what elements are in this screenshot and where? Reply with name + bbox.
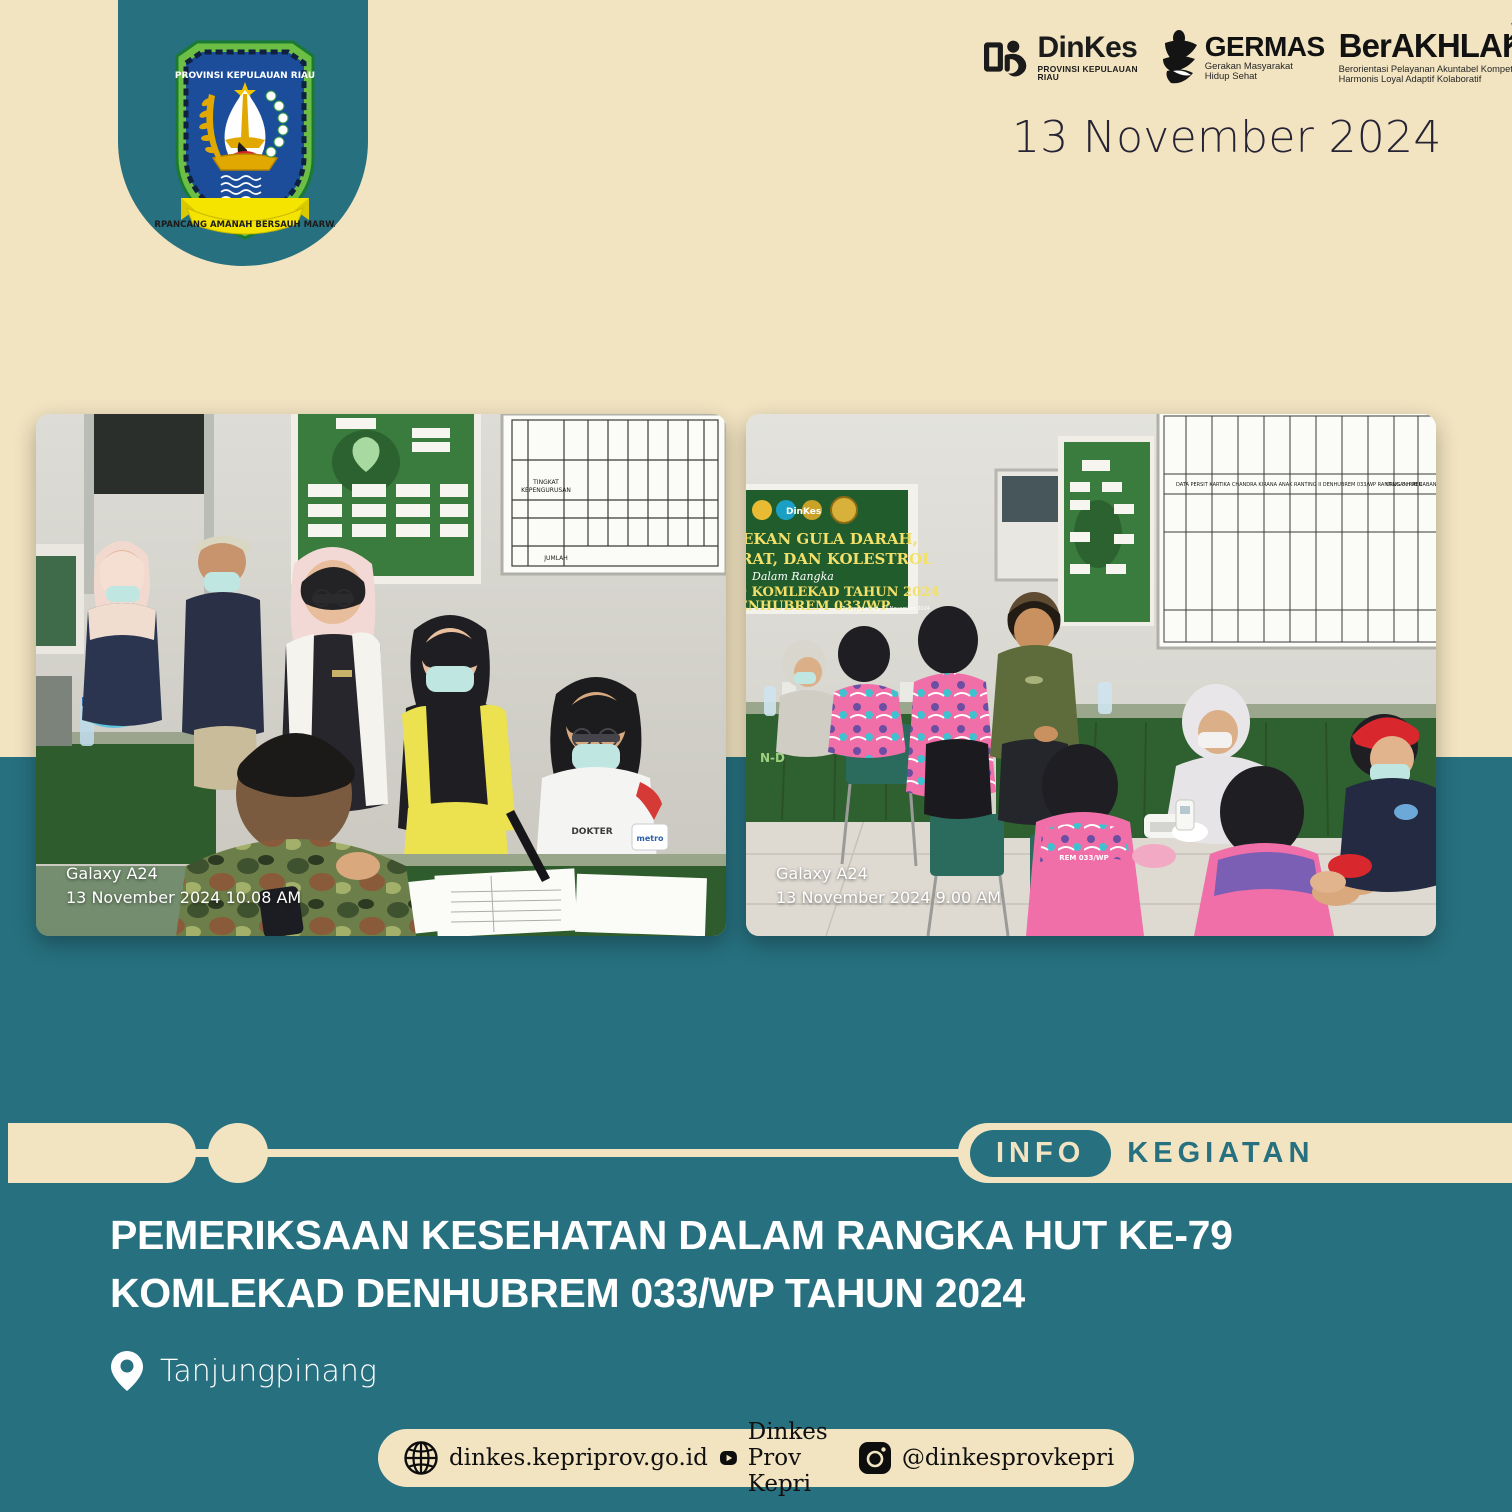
svg-text:BERPANCANG AMANAH BERSAUH MARW: BERPANCANG AMANAH BERSAUH MARWAH [155, 220, 335, 230]
page-title-line-1: PEMERIKSAAN KESEHATAN DALAM RANGKA HUT K… [110, 1212, 1233, 1258]
page-title: PEMERIKSAAN KESEHATAN DALAM RANGKA HUT K… [110, 1206, 1410, 1322]
svg-text:metro: metro [636, 834, 664, 843]
location-row: Tanjungpinang [110, 1350, 377, 1392]
svg-text:PROVINSI KEPULAUAN RIAU: PROVINSI KEPULAUAN RIAU [175, 71, 315, 81]
footer-instagram[interactable]: @dinkesprovkepri [859, 1442, 1114, 1474]
info-kegiatan-banner: INFO KEGIATAN [0, 1123, 1512, 1183]
partner-logos: DinKes PROVINSI KEPULAUAN RIAU GERMAS Ge… [984, 18, 1512, 96]
svg-text:DOKTER: DOKTER [571, 827, 612, 837]
svg-text:9 KOMLEKAD TAHUN 2024: 9 KOMLEKAD TAHUN 2024 [746, 585, 939, 600]
banner-left-block [8, 1123, 196, 1183]
footer-youtube-label: Dinkes Prov Kepri [748, 1419, 847, 1497]
svg-text:DinKes: DinKes [786, 507, 821, 517]
location-label: Tanjungpinang [160, 1354, 377, 1389]
publication-date: 13 November 2024 [1012, 112, 1442, 163]
dinkes-logo-icon [984, 30, 1030, 84]
svg-text:TINGKAT: TINGKAT [532, 479, 559, 486]
globe-icon [404, 1441, 438, 1475]
dinkes-title: DinKes [1037, 33, 1144, 63]
banner-right-panel: INFO KEGIATAN [958, 1123, 1512, 1183]
dinkes-logo: DinKes PROVINSI KEPULAUAN RIAU [984, 30, 1145, 84]
svg-text:KEPENGURUSAN: KEPENGURUSAN [521, 487, 571, 494]
footer-website-label: dinkes.kepriprov.go.id [449, 1445, 708, 1471]
footer-instagram-label: @dinkesprovkepri [902, 1445, 1114, 1471]
germas-logo: GERMAS Gerakan Masyarakat Hidup Sehat [1159, 27, 1325, 87]
svg-text:Tanjungpinang, 13 November 202: Tanjungpinang, 13 November 2024 [841, 606, 930, 612]
banner-circle-dot [208, 1123, 268, 1183]
instagram-icon [859, 1442, 891, 1474]
info-pill-label: INFO [970, 1130, 1111, 1177]
footer-youtube[interactable]: Dinkes Prov Kepri [720, 1419, 847, 1497]
berakhlak-title: BerAKHLAK [1339, 29, 1512, 64]
footer-website[interactable]: dinkes.kepriprov.go.id [404, 1441, 708, 1475]
photo-blood-sugar-check-room: DinKes EKAN GULA DARAH, RAT, DAN KOLESTR… [746, 414, 1436, 936]
svg-text:REM 033/WP: REM 033/WP [1059, 854, 1109, 862]
youtube-icon [720, 1443, 737, 1473]
map-pin-icon [110, 1350, 144, 1392]
provinsi-kepulauan-riau-emblem-icon: PROVINSI KEPULAUAN RIAU [155, 38, 335, 253]
berakhlak-line-2: Harmonis Loyal Adaptif Kolaboratif [1339, 75, 1512, 85]
germas-title: GERMAS [1205, 32, 1325, 61]
svg-text:JUMLAH: JUMLAH [543, 555, 567, 562]
svg-text:RAT, DAN KOLESTROL: RAT, DAN KOLESTROL [746, 550, 933, 568]
dinkes-subtitle: PROVINSI KEPULAUAN RIAU [1037, 65, 1144, 82]
banner-connector-line [262, 1149, 972, 1157]
kegiatan-label: KEGIATAN [1127, 1137, 1314, 1170]
footer-contact-bar: dinkes.kepriprov.go.id Dinkes Prov Kepri… [378, 1429, 1134, 1487]
svg-text:URUSAN PREN: URUSAN PREN [1386, 482, 1422, 488]
berakhlak-logo: BerAKHLAK Berorientasi Pelayanan Akuntab… [1339, 29, 1512, 84]
page-title-line-2: KOMLEKAD DENHUBREM 033/WP TAHUN 2024 [110, 1264, 1410, 1322]
svg-text:EKAN GULA DARAH,: EKAN GULA DARAH, [746, 530, 918, 548]
svg-text:Dalam Rangka: Dalam Rangka [751, 570, 834, 583]
germas-line-2: Hidup Sehat [1205, 72, 1325, 82]
photo-health-screening-desk: TINGKAT KEPENGURUSAN JUMLAH [36, 414, 726, 936]
germas-figure-icon [1159, 27, 1201, 87]
